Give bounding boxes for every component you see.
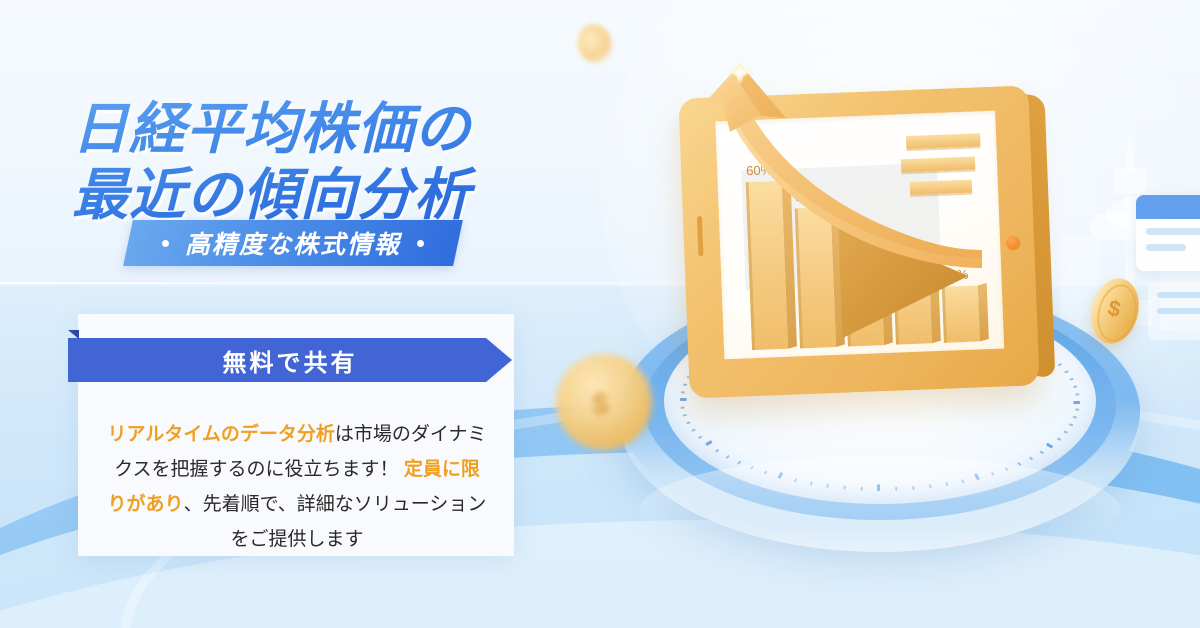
dial-tick	[1073, 385, 1077, 388]
dial-rim-highlight	[640, 456, 1120, 564]
subtitle-text: 高精度な株式情報	[185, 225, 401, 261]
dial-tick	[681, 391, 685, 393]
coin-icon-top	[573, 20, 618, 69]
dial-tick	[1029, 456, 1033, 460]
dial-tick	[1069, 378, 1073, 381]
bullet-dot-icon	[162, 240, 169, 247]
dial-tick	[681, 407, 685, 409]
bar-chart-bar	[942, 285, 980, 342]
coin-dollar-sign-icon: $	[592, 388, 618, 420]
sparkle-icon	[722, 54, 758, 90]
headline-line-2: 最近の傾向分析	[72, 162, 612, 228]
dial-tick	[698, 436, 702, 439]
dial-tick	[691, 429, 695, 432]
dial-tick	[1058, 363, 1062, 366]
dial-tick	[737, 461, 741, 465]
dial-tick	[715, 449, 719, 453]
hero-illustration: 60%50%40%30%20%	[540, 20, 1200, 620]
page-title: 日経平均株価の 最近の傾向分析	[72, 96, 612, 228]
dial-tick	[1073, 416, 1077, 419]
growth-arrow-icon	[670, 54, 1000, 294]
share-free-banner[interactable]: 無料で共有	[68, 338, 512, 382]
dial-tick	[1075, 409, 1079, 411]
dial-tick	[726, 455, 730, 459]
dial-tick	[1064, 370, 1068, 373]
dial-tick	[1075, 393, 1079, 395]
dial-tick	[1046, 443, 1053, 449]
subtitle-ribbon: 高精度な株式情報	[123, 220, 463, 266]
dial-tick	[1069, 423, 1073, 426]
promo-highlight-1: リアルタイムのデータ分析	[107, 424, 334, 445]
growth-arrow	[670, 54, 1000, 294]
bullet-dot-icon	[417, 240, 424, 247]
dial-tick	[1057, 437, 1061, 440]
dial-tick	[1073, 401, 1080, 404]
promo-text-2: 、先着順で、詳細なソリューションをご提供します	[184, 494, 487, 550]
tablet-home-button-icon	[1006, 236, 1021, 251]
share-free-banner-label: 無料で共有	[223, 343, 358, 378]
dial-tick	[1064, 430, 1068, 433]
hero-banner: 日経平均株価の 最近の傾向分析 高精度な株式情報 無料で共有 リアルタイムのデー…	[0, 0, 1200, 628]
dial-tick	[680, 398, 687, 401]
headline-line-1: 日経平均株価の	[72, 97, 471, 160]
dial-tick	[705, 440, 712, 446]
promo-card-body: リアルタイムのデータ分析は市場のダイナミクスを把握するのに役立ちます！ 定員に限…	[106, 417, 488, 557]
dial-tick	[683, 414, 687, 417]
dial-tick	[1040, 450, 1044, 454]
dial-tick	[683, 383, 687, 386]
dial-tick	[686, 421, 690, 424]
